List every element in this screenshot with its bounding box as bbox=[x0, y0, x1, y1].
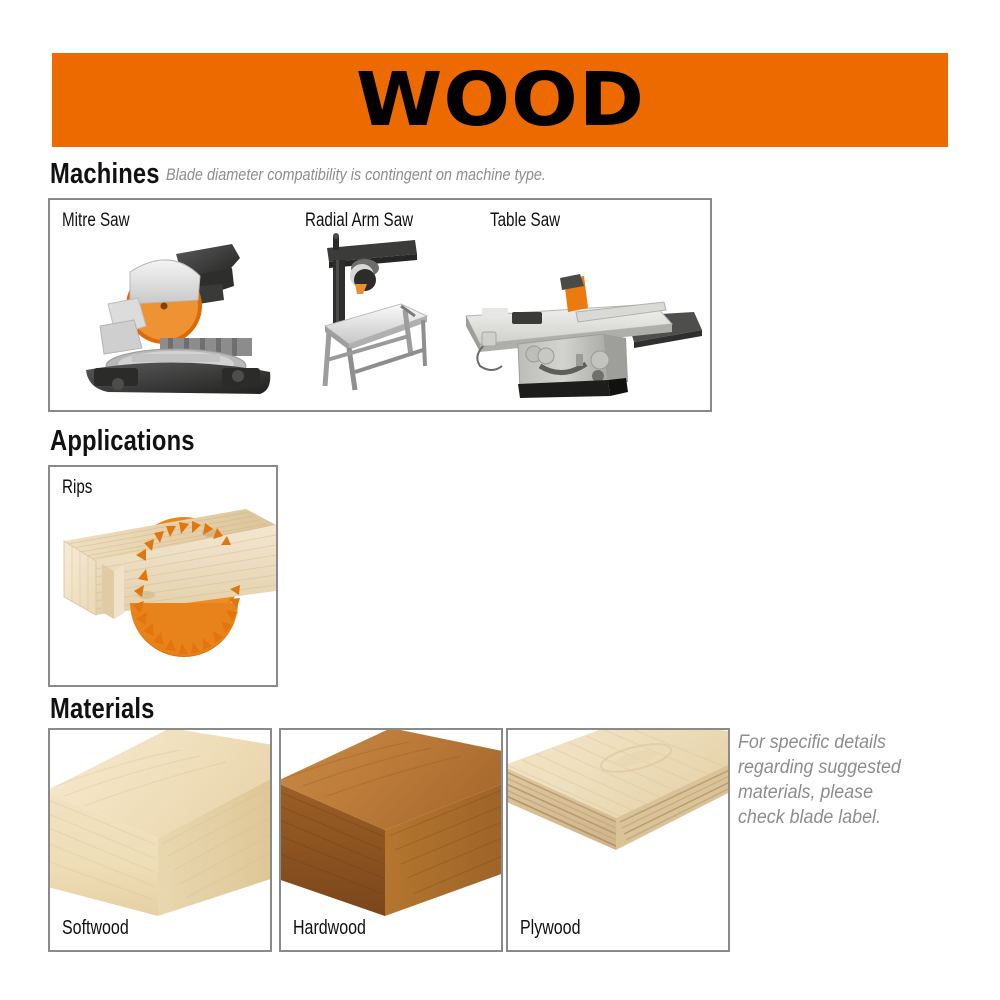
material-card-softwood: Softwood bbox=[48, 728, 272, 952]
wood-info-panel: WOOD Machines Blade diameter compatibili… bbox=[0, 0, 1000, 1000]
machines-panel: Mitre Saw Radial Arm Saw Table Saw bbox=[48, 198, 712, 412]
material-card-hardwood: Hardwood bbox=[279, 728, 503, 952]
materials-note-line-1: For specific details bbox=[738, 730, 940, 755]
page-title: WOOD bbox=[355, 63, 644, 137]
header-banner: WOOD bbox=[52, 53, 948, 147]
radial-arm-saw-illustration bbox=[305, 232, 435, 392]
machines-section-heading: Machines Blade diameter compatibility is… bbox=[50, 158, 613, 191]
machine-label-mitre-saw: Mitre Saw bbox=[62, 210, 130, 232]
machines-subtitle-text: Blade diameter compatibility is continge… bbox=[166, 165, 546, 185]
applications-section-heading: Applications bbox=[50, 425, 226, 458]
softwood-block-image bbox=[50, 728, 272, 916]
mitre-saw-illustration bbox=[72, 242, 302, 402]
material-card-plywood: Plywood bbox=[506, 728, 730, 952]
table-saw-illustration bbox=[458, 250, 706, 400]
machines-heading-text: Machines bbox=[50, 158, 160, 191]
application-label-rips: Rips bbox=[62, 477, 92, 499]
plywood-sheet-image bbox=[508, 728, 730, 896]
material-label-softwood: Softwood bbox=[62, 917, 129, 940]
materials-heading-text: Materials bbox=[50, 693, 155, 726]
materials-note-line-3: materials, please bbox=[738, 780, 940, 805]
materials-note-line-4: check blade label. bbox=[738, 805, 940, 830]
machine-label-table-saw: Table Saw bbox=[490, 210, 560, 232]
hardwood-block-image bbox=[281, 728, 503, 916]
materials-note: For specific details regarding suggested… bbox=[738, 730, 953, 830]
rip-cut-illustration bbox=[50, 495, 276, 685]
materials-note-line-2: regarding suggested bbox=[738, 755, 940, 780]
materials-section-heading: Materials bbox=[50, 693, 178, 726]
material-label-plywood: Plywood bbox=[520, 917, 580, 940]
applications-panel: Rips bbox=[48, 465, 278, 687]
machine-label-radial-arm-saw: Radial Arm Saw bbox=[305, 210, 413, 232]
material-label-hardwood: Hardwood bbox=[293, 917, 366, 940]
applications-heading-text: Applications bbox=[50, 425, 195, 458]
